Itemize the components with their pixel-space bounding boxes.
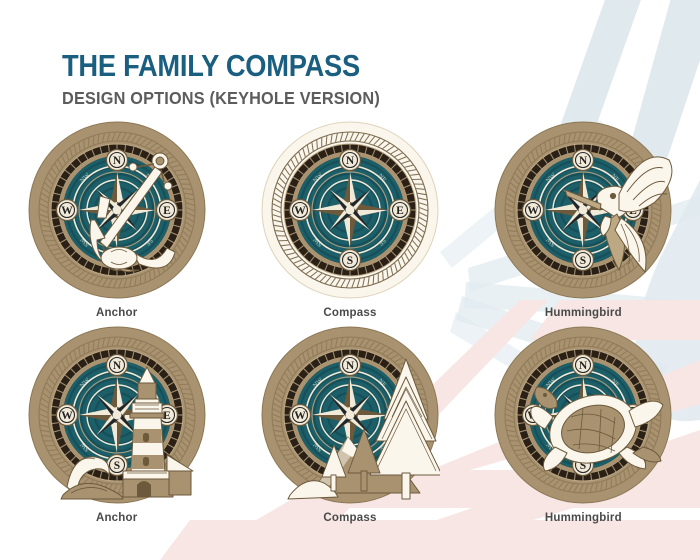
svg-text:S: S <box>580 255 586 267</box>
design-option-card[interactable]: NESWNESESWNWCompass <box>233 120 466 325</box>
design-option-label: Hummingbird <box>545 307 622 319</box>
design-option-label: Compass <box>323 307 376 319</box>
page-header: THE FAMILY COMPASS DESIGN OPTIONS (KEYHO… <box>62 50 404 109</box>
design-options-grid: NESWNESESWNW AnchorNESWNESESWNWCompassNE… <box>0 120 700 530</box>
medallion-compass[interactable]: NESWNESESWNW <box>260 120 440 300</box>
design-option-card[interactable]: NESWNESESWNW Hummingbird <box>467 325 700 530</box>
svg-text:S: S <box>113 460 119 472</box>
svg-text:N: N <box>346 155 355 167</box>
medallion-artwork: NESWNESESWNW <box>493 120 673 300</box>
svg-text:W: W <box>294 205 306 217</box>
design-option-card[interactable]: NESWNESESWNW Compass <box>233 325 466 530</box>
medallion-artwork: NESWNESESWNW <box>27 325 207 505</box>
svg-text:W: W <box>61 410 73 422</box>
medallion-hummingbird[interactable]: NESWNESESWNW <box>493 120 673 300</box>
medallion-artwork: NESWNESESWNW <box>27 120 207 300</box>
design-option-card[interactable]: NESWNESESWNW Hummingbird <box>467 120 700 325</box>
design-option-label: Anchor <box>96 307 137 319</box>
design-option-card[interactable]: NESWNESESWNW Anchor <box>0 120 233 325</box>
svg-text:N: N <box>113 155 122 167</box>
svg-text:N: N <box>579 360 588 372</box>
svg-text:N: N <box>579 155 588 167</box>
design-option-card[interactable]: NESWNESESWNW Anchor <box>0 325 233 530</box>
page-title: THE FAMILY COMPASS <box>62 50 363 83</box>
medallion-turtle[interactable]: NESWNESESWNW <box>493 325 673 505</box>
svg-text:S: S <box>347 255 353 267</box>
design-option-label: Anchor <box>96 512 137 524</box>
svg-text:E: E <box>163 205 171 217</box>
svg-text:E: E <box>396 205 404 217</box>
svg-text:W: W <box>61 205 73 217</box>
medallion-artwork: NESWNESESWNW <box>493 325 673 505</box>
medallion-anchor[interactable]: NESWNESESWNW <box>27 120 207 300</box>
page-subtitle: DESIGN OPTIONS (KEYHOLE VERSION) <box>62 88 380 109</box>
medallion-lighthouse[interactable]: NESWNESESWNW <box>27 325 207 505</box>
svg-text:N: N <box>346 360 355 372</box>
svg-text:N: N <box>113 360 122 372</box>
medallion-artwork: NESWNESESWNW <box>260 325 440 505</box>
medallion-artwork: NESWNESESWNW <box>260 120 440 300</box>
design-option-label: Hummingbird <box>545 512 622 524</box>
medallion-mountains[interactable]: NESWNESESWNW <box>260 325 440 505</box>
design-option-label: Compass <box>323 512 376 524</box>
svg-text:W: W <box>294 410 306 422</box>
svg-text:W: W <box>528 205 540 217</box>
